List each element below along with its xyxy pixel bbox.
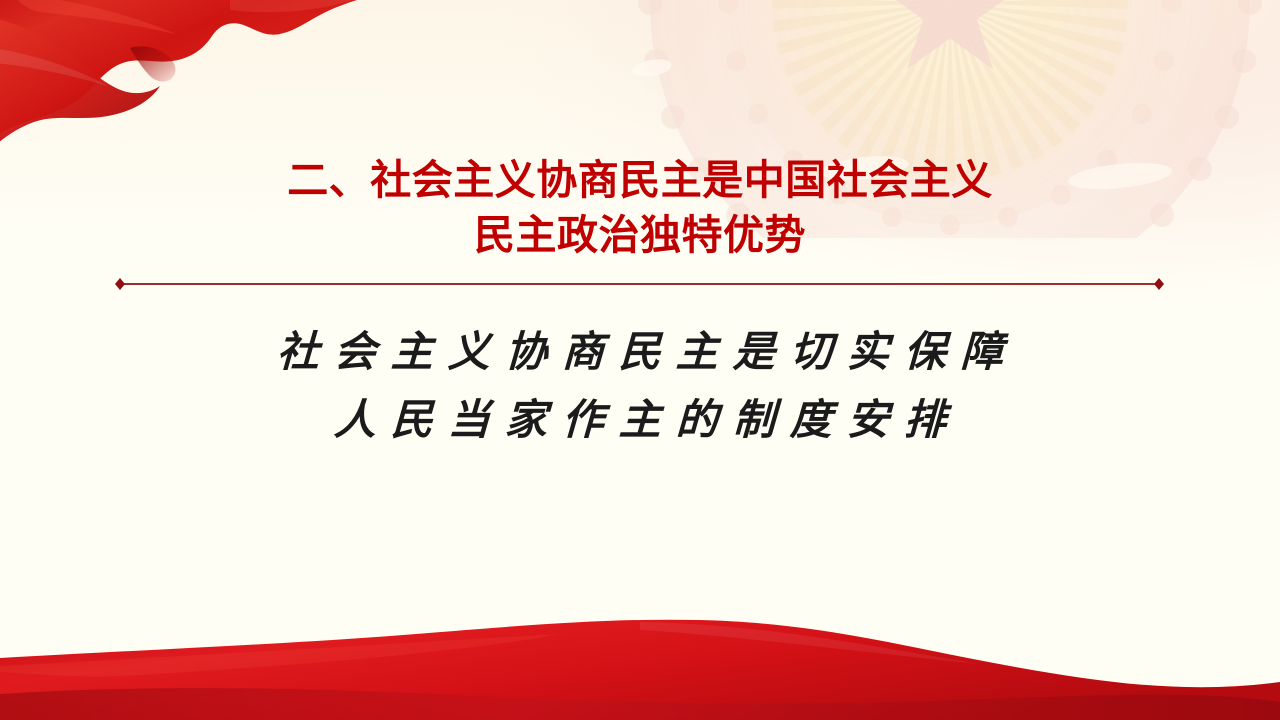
diamond-right-icon [1154, 278, 1164, 290]
title-line-1: 二、社会主义协商民主是中国社会主义 [0, 153, 1280, 208]
body-line-2: 人民当家作主的制度安排 [0, 386, 1280, 454]
body-text: 社会主义协商民主是切实保障 人民当家作主的制度安排 [0, 318, 1280, 454]
slide-content: 二、社会主义协商民主是中国社会主义 民主政治独特优势 社会主义协商民主是切实保障… [0, 0, 1280, 720]
divider [113, 277, 1166, 291]
body-line-1: 社会主义协商民主是切实保障 [0, 318, 1280, 386]
page-title: 二、社会主义协商民主是中国社会主义 民主政治独特优势 [0, 153, 1280, 263]
title-line-2: 民主政治独特优势 [0, 208, 1280, 263]
diamond-left-icon [115, 278, 125, 290]
slide-canvas: 二、社会主义协商民主是中国社会主义 民主政治独特优势 社会主义协商民主是切实保障… [0, 0, 1280, 720]
